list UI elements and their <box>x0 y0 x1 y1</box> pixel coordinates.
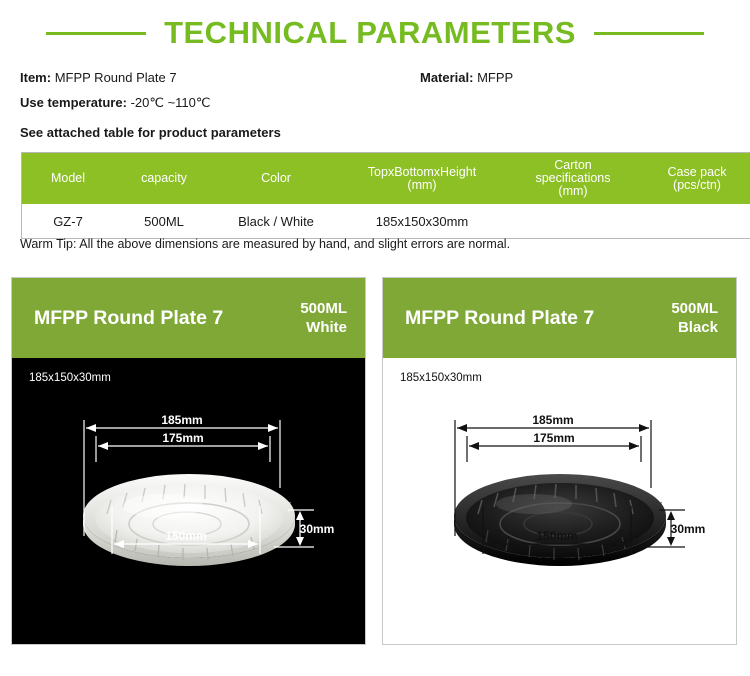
spec-temperature-label: Use temperature: <box>20 95 127 110</box>
dimension-annotations-white: 185mm 175mm 150mm 30mm <box>12 358 365 644</box>
spec-item: Item: MFPP Round Plate 7 <box>20 70 177 86</box>
card-badge-capacity-black: 500ML <box>671 299 718 318</box>
card-header-black: MFPP Round Plate 7 500ML Black <box>383 278 736 358</box>
card-badge-capacity-white: 500ML <box>300 299 347 318</box>
dim-label-inner-width-white: 175mm <box>162 431 203 445</box>
dim-label-height-black: 30mm <box>671 522 706 536</box>
spec-material: Material: MFPP <box>420 70 513 86</box>
table-header-dimensions-line1: TopxBottomxHeight <box>340 166 504 179</box>
cell-case-pack <box>640 204 750 239</box>
card-title-white: MFPP Round Plate 7 <box>34 307 223 330</box>
card-badge-white: 500ML White <box>300 299 347 337</box>
table-header-dimensions-line2: (mm) <box>340 179 504 192</box>
table-header-case-pack-line2: (pcs/ctn) <box>642 179 750 192</box>
parameters-table: Model capacity Color TopxBottomxHeight (… <box>21 152 750 239</box>
dim-label-top-width-white: 185mm <box>161 413 202 427</box>
warm-tip: Warm Tip: All the above dimensions are m… <box>20 237 510 251</box>
card-body-white: 185x150x30mm <box>12 358 365 644</box>
table-header-carton: Carton specifications (mm) <box>506 153 640 205</box>
cell-capacity: 500ML <box>114 204 214 239</box>
spec-material-label: Material: <box>420 70 473 85</box>
card-badge-color-black: Black <box>671 318 718 337</box>
dim-label-height-white: 30mm <box>300 522 335 536</box>
table-header-color: Color <box>214 153 338 205</box>
table-header-capacity: capacity <box>114 153 214 205</box>
cell-color: Black / White <box>214 204 338 239</box>
title-rule-right <box>594 32 704 35</box>
card-badge-black: 500ML Black <box>671 299 718 337</box>
page-title: TECHNICAL PARAMETERS <box>164 15 576 51</box>
dim-label-base-width-black: 150mm <box>536 529 577 543</box>
page-title-row: TECHNICAL PARAMETERS <box>0 10 750 56</box>
table-header-case-pack-line1: Case pack <box>642 166 750 179</box>
product-card-black: MFPP Round Plate 7 500ML Black 185x150x3… <box>382 277 737 645</box>
spec-temperature-value: -20℃ ~110℃ <box>131 95 211 110</box>
table-header-dimensions: TopxBottomxHeight (mm) <box>338 153 506 205</box>
spec-item-label: Item: <box>20 70 51 85</box>
table-header-carton-line3: (mm) <box>508 185 638 198</box>
dim-label-inner-width-black: 175mm <box>533 431 574 445</box>
table-row: GZ-7 500ML Black / White 185x150x30mm <box>22 204 750 239</box>
spec-material-value: MFPP <box>477 70 513 85</box>
product-card-white: MFPP Round Plate 7 500ML White 185x150x3… <box>11 277 366 645</box>
attached-table-note: See attached table for product parameter… <box>20 125 281 141</box>
card-body-black: 185x150x30mm <box>383 358 736 644</box>
spec-item-value: MFPP Round Plate 7 <box>55 70 177 85</box>
card-title-black: MFPP Round Plate 7 <box>405 307 594 330</box>
cell-model: GZ-7 <box>22 204 115 239</box>
card-header-white: MFPP Round Plate 7 500ML White <box>12 278 365 358</box>
dim-label-base-width-white: 150mm <box>165 529 206 543</box>
dim-label-top-width-black: 185mm <box>532 413 573 427</box>
card-badge-color-white: White <box>300 318 347 337</box>
table-header-case-pack: Case pack (pcs/ctn) <box>640 153 750 205</box>
table-header-row: Model capacity Color TopxBottomxHeight (… <box>22 153 750 205</box>
cell-dimensions: 185x150x30mm <box>338 204 506 239</box>
cell-carton <box>506 204 640 239</box>
title-rule-left <box>46 32 146 35</box>
dimension-annotations-black: 185mm 175mm 150mm 30mm <box>383 358 736 644</box>
spec-temperature: Use temperature: -20℃ ~110℃ <box>20 95 210 111</box>
table-header-model: Model <box>22 153 115 205</box>
